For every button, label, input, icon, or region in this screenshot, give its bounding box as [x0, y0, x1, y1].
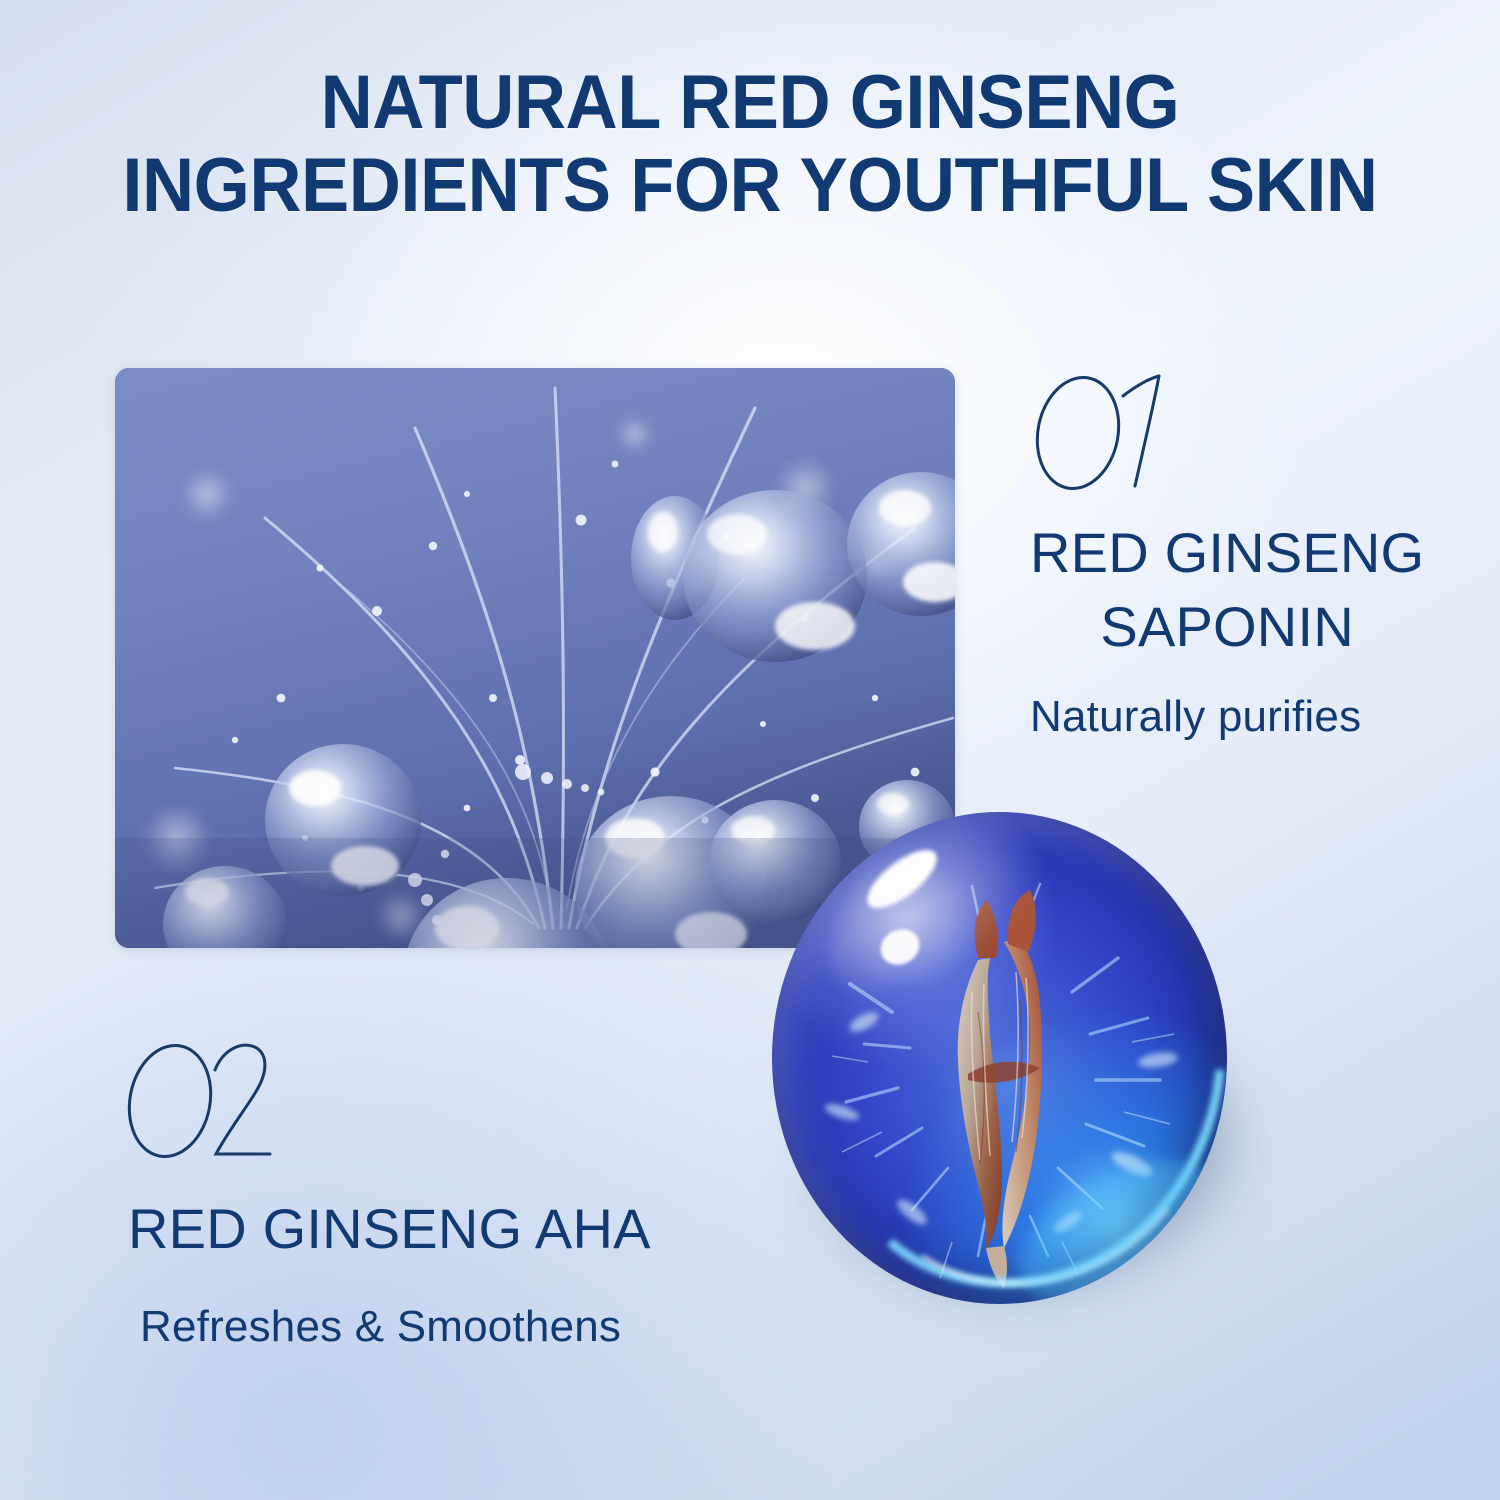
blue-glass-orb — [772, 812, 1227, 1304]
ingredient-infographic-poster: NATURAL RED GINSENG INGREDIENTS FOR YOUT… — [0, 0, 1500, 1500]
ingredient-02-benefit: Refreshes & Smoothens — [128, 1298, 651, 1355]
ingredient-number-01 — [1022, 372, 1192, 494]
ingredient-01-name: RED GINSENG SAPONIN — [1030, 516, 1424, 664]
numeral-02-outline-icon — [118, 1040, 288, 1162]
numeral-01-outline-icon — [1022, 372, 1192, 494]
ingredient-01-benefit: Naturally purifies — [1030, 688, 1424, 745]
ingredient-info-01: RED GINSENG SAPONIN Naturally purifies — [1030, 516, 1424, 745]
page-title-line-1: NATURAL RED GINSENG — [38, 62, 1463, 145]
ingredient-01-name-line-1: RED GINSENG — [1030, 521, 1424, 584]
ingredient-02-name: RED GINSENG AHA — [128, 1192, 651, 1266]
ingredient-info-02: RED GINSENG AHA Refreshes & Smoothens — [128, 1192, 651, 1355]
ingredient-02-name-line-1: RED GINSENG AHA — [128, 1197, 651, 1260]
ingredient-number-02 — [118, 1040, 288, 1162]
ingredient-01-name-line-2: SAPONIN — [1030, 590, 1424, 664]
ginseng-orb-group — [740, 790, 1300, 1350]
page-title-line-2: INGREDIENTS FOR YOUTHFUL SKIN — [38, 145, 1463, 228]
page-title: NATURAL RED GINSENG INGREDIENTS FOR YOUT… — [38, 62, 1463, 228]
